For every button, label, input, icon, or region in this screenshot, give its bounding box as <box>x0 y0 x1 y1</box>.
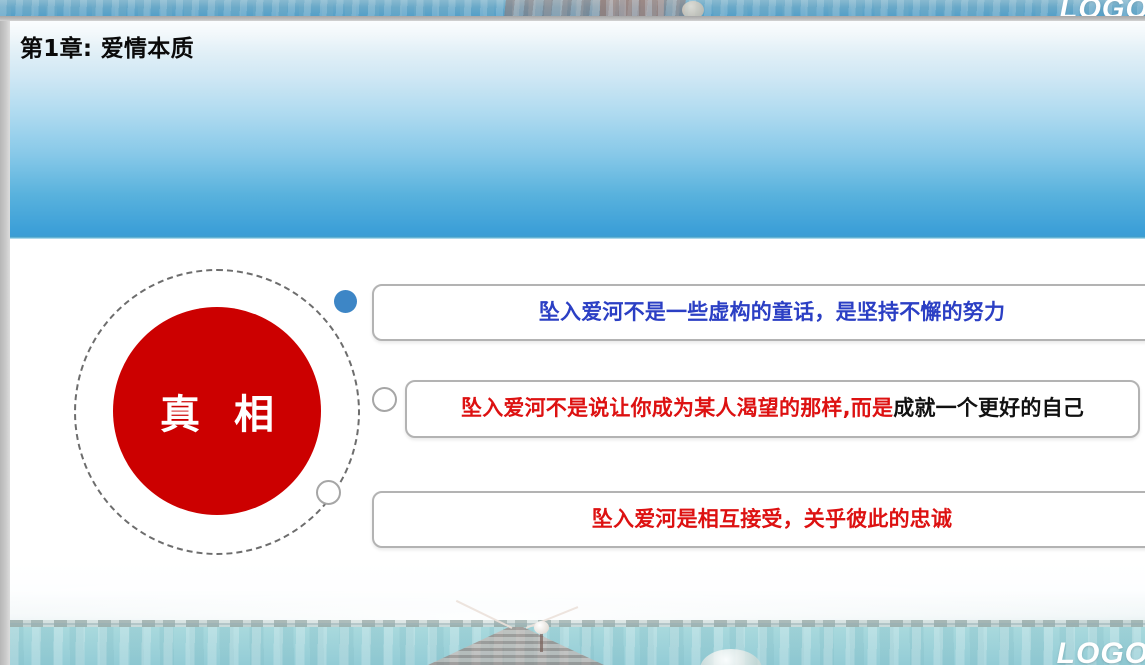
footer-logo: LOGO <box>1057 637 1145 665</box>
sliver-pier-planks-image <box>600 0 664 16</box>
footer-lamp-icon <box>534 621 549 634</box>
statement-2-segment-dark: 成就一个更好的自己 <box>893 396 1084 420</box>
page-title: 第1章: 爱情本质 <box>20 29 194 63</box>
statement-2-segment-red: 坠入爱河不是说让你成为某人渴望的那样,而是 <box>461 396 893 420</box>
footer-lamp-post <box>540 633 543 652</box>
statement-3-text: 坠入爱河是相互接受，关乎彼此的忠诚 <box>592 507 952 532</box>
footer-sky-haze <box>10 561 1145 625</box>
slide-viewport: LOGO 第1章: 爱情本质 真 相 坠入爱河不是一些虚构的童话，是坚持不懈的努… <box>0 0 1145 665</box>
footer-seascape-image: LOGO <box>10 561 1145 665</box>
statement-box-2[interactable]: 坠入爱河不是说让你成为某人渴望的那样,而是成就一个更好的自己 <box>405 380 1140 438</box>
orbit-node-3-marker[interactable] <box>316 480 341 505</box>
statement-1-text: 坠入爱河不是一些虚构的童话，是坚持不懈的努力 <box>539 300 1005 325</box>
previous-slide-sliver[interactable]: LOGO <box>0 0 1145 16</box>
current-slide[interactable]: 第1章: 爱情本质 真 相 坠入爱河不是一些虚构的童话，是坚持不懈的努力 坠入爱… <box>10 21 1145 665</box>
left-gutter <box>0 21 10 665</box>
center-node-circle[interactable]: 真 相 <box>113 307 321 515</box>
statement-box-1[interactable]: 坠入爱河不是一些虚构的童话，是坚持不懈的努力 <box>372 284 1145 341</box>
orbit-node-1-marker[interactable] <box>334 290 357 313</box>
previous-slide-logo: LOGO <box>1060 0 1145 16</box>
center-node-label: 真 相 <box>150 382 284 440</box>
sliver-ball-image <box>682 1 704 16</box>
orbit-node-2-marker[interactable] <box>372 387 397 412</box>
footer-horizon-line <box>10 623 1145 625</box>
statement-2-text: 坠入爱河不是说让你成为某人渴望的那样,而是成就一个更好的自己 <box>461 396 1084 421</box>
slide-header-banner: 第1章: 爱情本质 <box>10 21 1145 238</box>
statement-box-3[interactable]: 坠入爱河是相互接受，关乎彼此的忠诚 <box>372 491 1145 548</box>
